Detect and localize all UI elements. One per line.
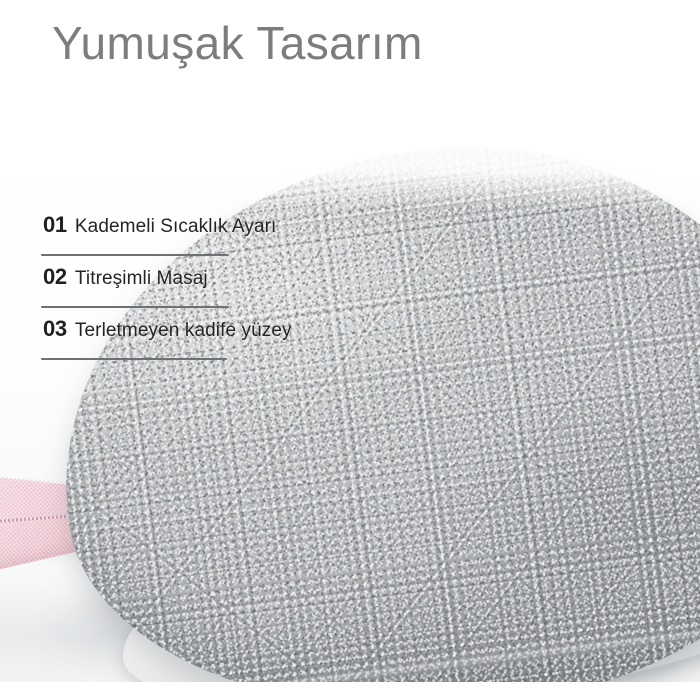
page-title: Yumuşak Tasarım bbox=[52, 16, 423, 70]
feature-number: 01 bbox=[43, 212, 67, 238]
text-overlay: Yumuşak Tasarım 01 Kademeli Sıcaklık Aya… bbox=[0, 0, 700, 700]
list-item: 03 Terletmeyen kadife yüzey bbox=[41, 316, 371, 360]
feature-label: Terletmeyen kadife yüzey bbox=[75, 320, 292, 342]
feature-row-01: 01 Kademeli Sıcaklık Ayarı bbox=[41, 212, 371, 242]
feature-number: 02 bbox=[43, 264, 67, 290]
feature-divider bbox=[41, 358, 227, 360]
feature-divider bbox=[41, 254, 229, 256]
feature-label: Titreşimli Masaj bbox=[75, 268, 208, 290]
feature-number: 03 bbox=[43, 316, 67, 342]
feature-row-02: 02 Titreşimli Masaj bbox=[41, 264, 371, 294]
feature-list: 01 Kademeli Sıcaklık Ayarı 02 Titreşimli… bbox=[41, 212, 371, 368]
list-item: 02 Titreşimli Masaj bbox=[41, 264, 371, 308]
feature-row-03: 03 Terletmeyen kadife yüzey bbox=[41, 316, 371, 346]
list-item: 01 Kademeli Sıcaklık Ayarı bbox=[41, 212, 371, 256]
product-feature-graphic: Yumuşak Tasarım 01 Kademeli Sıcaklık Aya… bbox=[0, 0, 700, 700]
feature-label: Kademeli Sıcaklık Ayarı bbox=[75, 216, 277, 238]
feature-divider bbox=[41, 306, 229, 308]
